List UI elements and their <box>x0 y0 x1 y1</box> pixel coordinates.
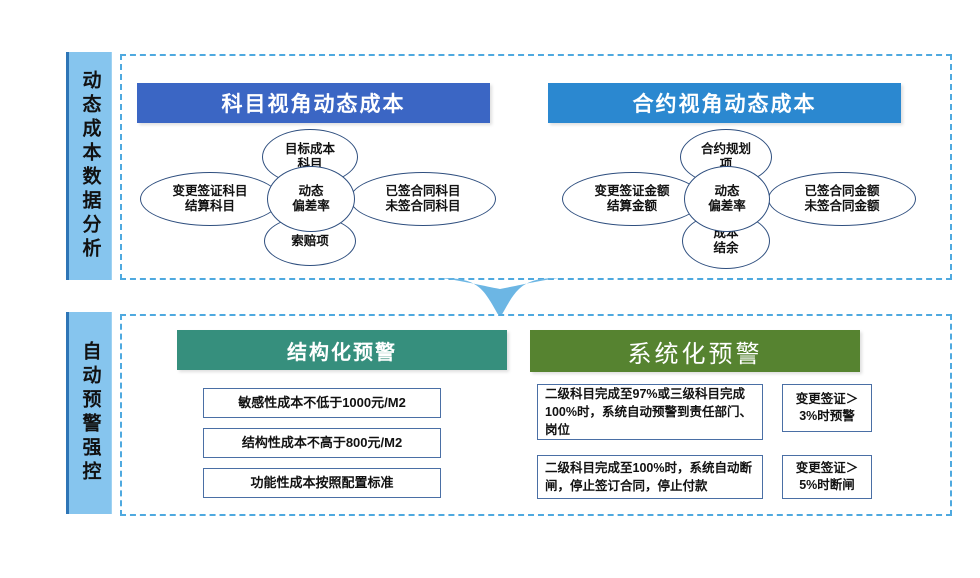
title-systematic-alert: 系统化预警 <box>530 330 860 372</box>
sidebar-band-label: 动态成本数据分析 <box>81 70 100 262</box>
ellipse-contract-center: 动态 偏差率 <box>684 166 770 232</box>
ellipse-subject-right-label: 已签合同科目 未签合同科目 <box>385 184 460 214</box>
ellipse-subject-right: 已签合同科目 未签合同科目 <box>350 172 496 226</box>
ellipse-subject-left-label: 变更签证科目 结算科目 <box>172 184 247 214</box>
rule-box-systematic-side-1-label: 变更签证＞ 3%时预警 <box>796 391 859 425</box>
rule-box-systematic-main-2-label: 二级科目完成至100%时，系统自动断闸，停止签订合同，停止付款 <box>545 459 755 495</box>
ellipse-contract-left: 变更签证金额 结算金额 <box>562 172 702 226</box>
ellipse-subject-left: 变更签证科目 结算科目 <box>140 172 280 226</box>
rule-box-systematic-side-2-label: 变更签证＞ 5%时断闸 <box>796 460 859 494</box>
sidebar-band-label: 自动预警强控 <box>81 341 100 485</box>
ellipse-contract-right: 已签合同金额 未签合同金额 <box>768 172 916 226</box>
ellipse-contract-center-label: 动态 偏差率 <box>708 184 746 214</box>
sidebar-band-auto-alert-control: 自动预警强控 <box>66 312 112 514</box>
rule-box-systematic-side-1: 变更签证＞ 3%时预警 <box>782 384 872 432</box>
title-contract-view-label: 合约视角动态成本 <box>633 88 817 118</box>
ellipse-contract-right-label: 已签合同金额 未签合同金额 <box>804 184 879 214</box>
rule-box-systematic-main-1-label: 二级科目完成至97%或三级科目完成100%时，系统自动预警到责任部门、岗位 <box>545 385 755 439</box>
rule-box-structured-2: 结构性成本不高于800元/M2 <box>203 428 441 458</box>
ellipse-subject-bottom-label: 索赔项 <box>291 234 329 249</box>
title-contract-view: 合约视角动态成本 <box>548 83 901 123</box>
rule-box-structured-2-label: 结构性成本不高于800元/M2 <box>242 434 402 452</box>
ellipse-subject-center-label: 动态 偏差率 <box>292 184 330 214</box>
ellipse-subject-center: 动态 偏差率 <box>267 166 355 232</box>
title-structured-alert: 结构化预警 <box>177 330 507 370</box>
title-subject-view: 科目视角动态成本 <box>137 83 490 123</box>
rule-box-structured-1-label: 敏感性成本不低于1000元/M2 <box>238 394 406 412</box>
title-systematic-alert-label: 系统化预警 <box>628 334 763 369</box>
title-structured-alert-label: 结构化预警 <box>287 336 397 365</box>
title-subject-view-label: 科目视角动态成本 <box>222 88 406 118</box>
rule-box-systematic-side-2: 变更签证＞ 5%时断闸 <box>782 455 872 499</box>
rule-box-structured-3: 功能性成本按照配置标准 <box>203 468 441 498</box>
rule-box-systematic-main-1: 二级科目完成至97%或三级科目完成100%时，系统自动预警到责任部门、岗位 <box>537 384 763 440</box>
rule-box-structured-3-label: 功能性成本按照配置标准 <box>250 474 393 492</box>
rule-box-structured-1: 敏感性成本不低于1000元/M2 <box>203 388 441 418</box>
ellipse-contract-left-label: 变更签证金额 结算金额 <box>594 184 669 214</box>
sidebar-band-dynamic-cost-analysis: 动态成本数据分析 <box>66 52 112 280</box>
rule-box-systematic-main-2: 二级科目完成至100%时，系统自动断闸，停止签订合同，停止付款 <box>537 455 763 499</box>
